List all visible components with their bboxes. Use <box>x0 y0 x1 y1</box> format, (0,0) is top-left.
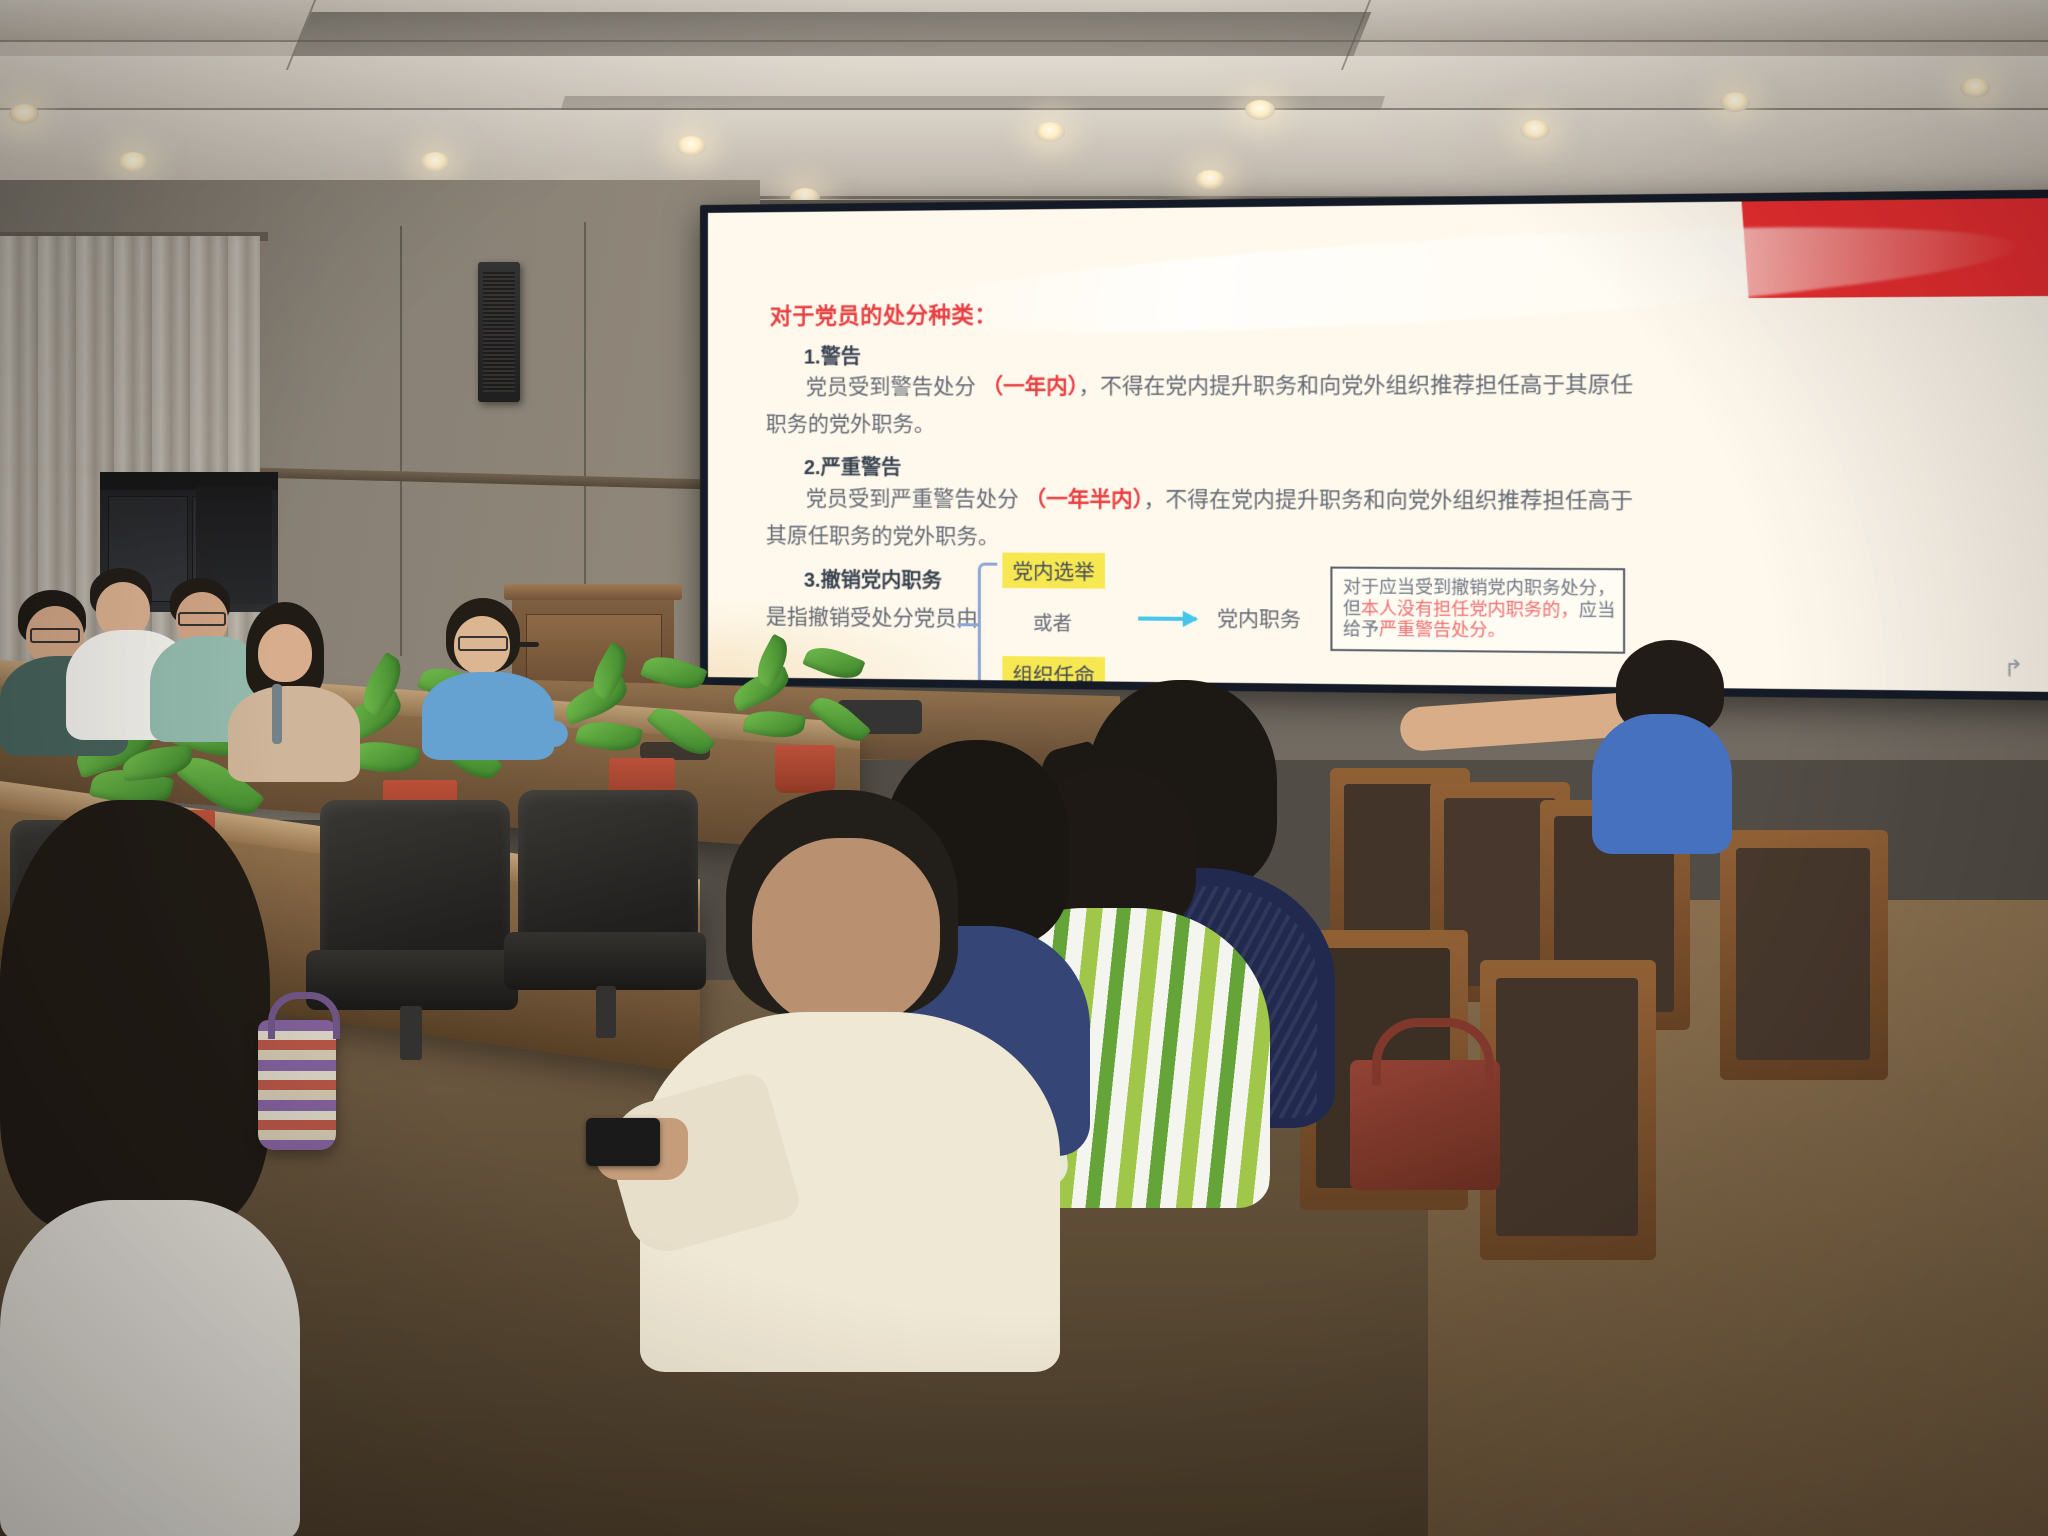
attendee-person <box>228 602 363 777</box>
presenter-person <box>418 598 558 758</box>
screenshot-root: 对于党员的处分种类： 1.警告 党员受到警告处分 （一年内），不得在党内提升职务… <box>0 0 2048 1536</box>
wall-seam <box>400 226 402 656</box>
audience-person <box>1496 640 1726 840</box>
handbag-strap <box>1372 1018 1494 1085</box>
wall-speaker <box>478 262 520 402</box>
ceiling-light <box>1035 122 1065 142</box>
lanyard <box>272 684 282 744</box>
chair[interactable] <box>1720 830 1900 1100</box>
slide-surface: 对于党员的处分种类： 1.警告 党员受到警告处分 （一年内），不得在党内提升职务… <box>708 197 2048 692</box>
diagram-chip-top: 党内选举 <box>1002 553 1105 589</box>
slide-controls[interactable]: ↱ ‹ › <box>2003 655 2048 684</box>
audience-person <box>640 790 1060 1350</box>
diagram-connector-label: 或者 <box>1033 609 1072 637</box>
smartphone[interactable] <box>586 1118 660 1166</box>
ceiling-light <box>1195 170 1225 190</box>
presentation-screen[interactable]: 对于党员的处分种类： 1.警告 党员受到警告处分 （一年内），不得在党内提升职务… <box>700 189 2048 702</box>
wall-seam <box>584 222 586 622</box>
ceiling-light <box>1720 92 1750 112</box>
slide-heading-3: 3.撤销党内职务 <box>804 564 942 594</box>
eyeglasses <box>178 612 226 626</box>
slide-title: 对于党员的处分种类： <box>770 297 997 331</box>
slide-heading-2: 2.严重警告 <box>804 451 901 480</box>
diagram-arrow-icon <box>1138 616 1196 621</box>
bag-strap <box>268 992 340 1039</box>
diagram-arrow-target: 党内职务 <box>1217 603 1301 633</box>
audience-person <box>0 800 310 1536</box>
ceiling-light <box>1520 120 1550 140</box>
note-line-2: 但本人没有担任党内职务的，应当 <box>1343 598 1612 622</box>
diagram-stem <box>957 623 979 626</box>
slide-heading-1: 1.警告 <box>804 340 861 369</box>
slide-line-2a: 党员受到严重警告处分 （一年半内），不得在党内提升职务和向党外组织推荐担任高于 <box>806 487 1633 513</box>
chair[interactable] <box>1480 960 1670 1280</box>
ceiling-light <box>420 152 450 172</box>
share-icon[interactable]: ↱ <box>2003 655 2024 683</box>
knit-bag <box>258 1020 336 1150</box>
ceiling-light <box>676 136 706 156</box>
ceiling-light <box>118 152 148 172</box>
potted-plant <box>562 630 722 810</box>
slide-line-1b: 职务的党外职务。 <box>766 413 935 436</box>
ceiling-light <box>1960 78 1990 98</box>
slide-line-1a: 党员受到警告处分 （一年内），不得在党内提升职务和向党外组织推荐担任高于其原任 <box>806 373 1633 399</box>
potted-plant <box>730 625 880 795</box>
eyeglasses <box>458 636 508 651</box>
diagram-brace <box>978 563 997 693</box>
ceiling-light <box>1245 100 1275 120</box>
ceiling-light <box>9 104 39 124</box>
slide-line-2b: 其原任职务的党外职务。 <box>766 524 1000 548</box>
note-line-1: 对于应当受到撤销党内职务处分， <box>1343 577 1612 600</box>
